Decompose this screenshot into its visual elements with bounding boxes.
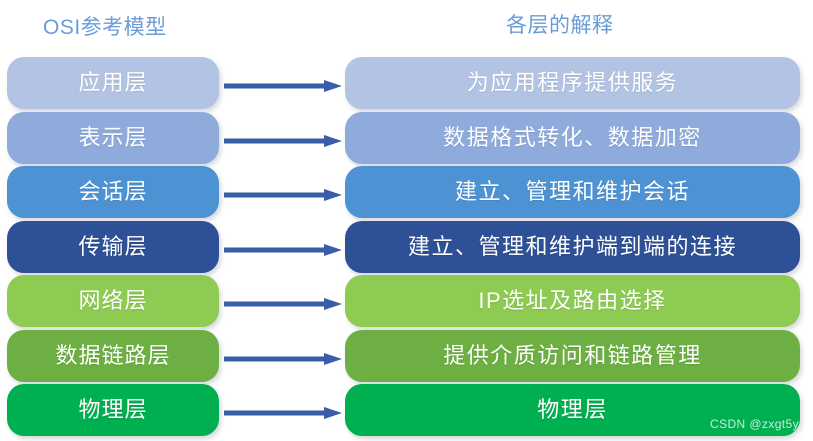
layer-description: IP选址及路由选择 <box>478 290 666 312</box>
layer-pill[interactable]: 数据链路层 <box>7 330 219 382</box>
watermark: CSDN @zxgt5y <box>710 417 799 431</box>
right-arrow-icon <box>224 189 342 201</box>
layer-description: 建立、管理和维护端到端的连接 <box>408 236 737 258</box>
left-column-title: OSI参考模型 <box>43 17 167 38</box>
layer-name: 应用层 <box>78 72 147 94</box>
description-pill[interactable]: 建立、管理和维护端到端的连接 <box>345 221 800 273</box>
layer-pill[interactable]: 会话层 <box>7 166 219 218</box>
layer-row: 数据链路层提供介质访问和链路管理 <box>0 330 813 382</box>
layer-description: 建立、管理和维护会话 <box>455 181 690 203</box>
right-arrow-icon <box>224 407 342 419</box>
layer-description: 物理层 <box>537 399 608 421</box>
layer-name: 会话层 <box>78 181 147 203</box>
layer-name: 物理层 <box>78 399 147 421</box>
layer-pill[interactable]: 传输层 <box>7 221 219 273</box>
layer-description: 提供介质访问和链路管理 <box>443 345 702 367</box>
layer-description: 为应用程序提供服务 <box>467 72 679 94</box>
layer-pill[interactable]: 物理层 <box>7 384 219 436</box>
right-arrow-icon <box>224 80 342 92</box>
layer-row: 网络层IP选址及路由选择 <box>0 275 813 327</box>
right-arrow-icon <box>224 298 342 310</box>
layer-row: 应用层为应用程序提供服务 <box>0 57 813 109</box>
layer-name: 表示层 <box>78 127 147 149</box>
description-pill[interactable]: 数据格式转化、数据加密 <box>345 112 800 164</box>
layer-pill[interactable]: 应用层 <box>7 57 219 109</box>
right-arrow-icon <box>224 244 342 256</box>
layer-name: 传输层 <box>78 236 147 258</box>
description-pill[interactable]: 提供介质访问和链路管理 <box>345 330 800 382</box>
layer-name: 数据链路层 <box>55 345 170 367</box>
description-pill[interactable]: 建立、管理和维护会话 <box>345 166 800 218</box>
right-arrow-icon <box>224 353 342 365</box>
right-column-title: 各层的解释 <box>506 15 614 36</box>
description-pill[interactable]: IP选址及路由选择 <box>345 275 800 327</box>
osi-model-diagram: OSI参考模型 各层的解释 应用层为应用程序提供服务表示层数据格式转化、数据加密… <box>0 0 813 441</box>
layer-row: 传输层建立、管理和维护端到端的连接 <box>0 221 813 273</box>
layer-pill[interactable]: 网络层 <box>7 275 219 327</box>
description-pill[interactable]: 为应用程序提供服务 <box>345 57 800 109</box>
right-arrow-icon <box>224 135 342 147</box>
layer-row: 物理层物理层 <box>0 384 813 436</box>
layer-row: 会话层建立、管理和维护会话 <box>0 166 813 218</box>
layer-row: 表示层数据格式转化、数据加密 <box>0 112 813 164</box>
layer-pill[interactable]: 表示层 <box>7 112 219 164</box>
layer-description: 数据格式转化、数据加密 <box>443 127 702 149</box>
layer-name: 网络层 <box>78 290 147 312</box>
